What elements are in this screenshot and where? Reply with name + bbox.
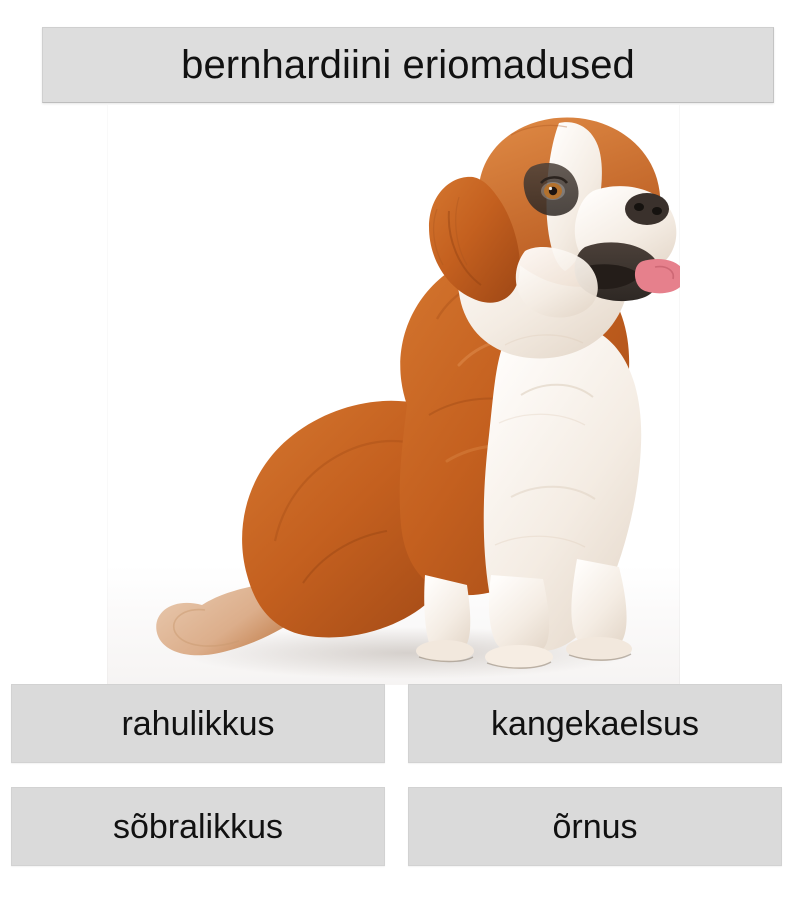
answer-option-rahulikkus[interactable]: rahulikkus bbox=[11, 684, 385, 763]
saint-bernard-illustration bbox=[107, 105, 680, 685]
prompt-card: bernhardiini eriomadused bbox=[42, 27, 774, 103]
answer-option-label: õrnus bbox=[552, 810, 637, 844]
answer-option-label: rahulikkus bbox=[121, 707, 274, 741]
answer-option-ornus[interactable]: õrnus bbox=[408, 787, 782, 866]
page-title: bernhardiini eriomadused bbox=[181, 45, 635, 85]
answer-option-sobralikkus[interactable]: sõbralikkus bbox=[11, 787, 385, 866]
answer-options: rahulikkus kangekaelsus sõbralikkus õrnu… bbox=[11, 684, 785, 866]
answer-row-2: sõbralikkus õrnus bbox=[11, 787, 785, 866]
dog-image bbox=[107, 105, 680, 685]
answer-option-kangekaelsus[interactable]: kangekaelsus bbox=[408, 684, 782, 763]
answer-option-label: kangekaelsus bbox=[491, 707, 699, 741]
answer-row-1: rahulikkus kangekaelsus bbox=[11, 684, 785, 763]
answer-option-label: sõbralikkus bbox=[113, 810, 283, 844]
